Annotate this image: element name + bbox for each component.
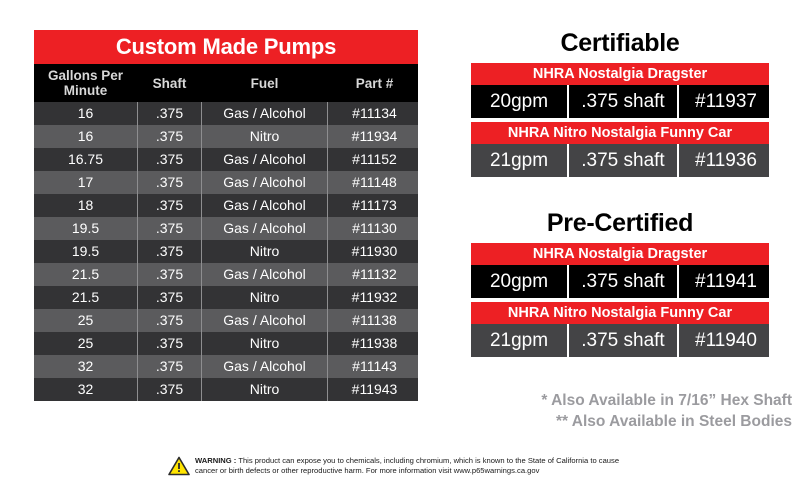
cell-shaft: .375: [137, 286, 201, 309]
cell-part-number: #11130: [327, 217, 421, 240]
cell-fuel: Nitro: [201, 286, 327, 309]
cell-fuel: Nitro: [201, 332, 327, 355]
cell-fuel: Nitro: [201, 378, 327, 401]
cell-shaft: .375: [137, 332, 201, 355]
prop65-warning-body: This product can expose you to chemicals…: [195, 456, 619, 475]
cell-part-number: #11940: [677, 324, 773, 357]
cell-shaft: .375 shaft: [567, 85, 677, 118]
cell-fuel: Nitro: [201, 125, 327, 148]
column-header-part-number: Part #: [327, 76, 421, 91]
table-row: 16.75.375Gas / Alcohol#11152: [34, 148, 418, 171]
cell-shaft: .375: [137, 355, 201, 378]
table-row: 18.375Gas / Alcohol#11173: [34, 194, 418, 217]
cell-part-number: #11938: [327, 332, 421, 355]
cell-gallons-per-minute: 21.5: [34, 263, 137, 286]
cell-gpm: 21gpm: [471, 324, 567, 357]
main-table-title: Custom Made Pumps: [34, 30, 418, 64]
main-table-header-row: Gallons Per Minute Shaft Fuel Part #: [34, 64, 418, 102]
cell-fuel: Gas / Alcohol: [201, 194, 327, 217]
cell-shaft: .375: [137, 194, 201, 217]
cell-shaft: .375: [137, 240, 201, 263]
mini-table-header: NHRA Nitro Nostalgia Funny Car: [471, 302, 769, 324]
column-header-shaft: Shaft: [137, 76, 201, 91]
cell-shaft: .375: [137, 171, 201, 194]
cell-shaft: .375: [137, 378, 201, 401]
cell-fuel: Gas / Alcohol: [201, 263, 327, 286]
cell-part-number: #11138: [327, 309, 421, 332]
certifiable-title: Certifiable: [471, 28, 769, 58]
cell-gallons-per-minute: 25: [34, 332, 137, 355]
cell-part-number: #11936: [677, 144, 773, 177]
mini-table-header: NHRA Nostalgia Dragster: [471, 63, 769, 85]
warning-triangle-icon: [168, 456, 190, 476]
cell-gallons-per-minute: 16: [34, 125, 137, 148]
cell-part-number: #11932: [327, 286, 421, 309]
table-row: 32.375Gas / Alcohol#11143: [34, 355, 418, 378]
mini-table-header: NHRA Nitro Nostalgia Funny Car: [471, 122, 769, 144]
cell-fuel: Gas / Alcohol: [201, 309, 327, 332]
table-row: 16.375Gas / Alcohol#11134: [34, 102, 418, 125]
table-row: 25.375Gas / Alcohol#11138: [34, 309, 418, 332]
mini-table-row: 20gpm.375 shaft#11941: [471, 265, 769, 298]
cell-part-number: #11934: [327, 125, 421, 148]
cell-gallons-per-minute: 16: [34, 102, 137, 125]
cell-shaft: .375: [137, 148, 201, 171]
column-header-gallons-per-minute: Gallons Per Minute: [34, 68, 137, 98]
cell-part-number: #11152: [327, 148, 421, 171]
table-row: 17.375Gas / Alcohol#11148: [34, 171, 418, 194]
custom-made-pumps-table: Custom Made Pumps Gallons Per Minute Sha…: [34, 30, 418, 401]
cell-gallons-per-minute: 16.75: [34, 148, 137, 171]
prop65-warning-label: WARNING :: [195, 456, 236, 465]
footnote-hex-shaft: * Also Available in 7/16” Hex Shaft: [462, 390, 792, 411]
cell-fuel: Gas / Alcohol: [201, 171, 327, 194]
cell-shaft: .375 shaft: [567, 265, 677, 298]
table-row: 25.375Nitro#11938: [34, 332, 418, 355]
cell-gpm: 20gpm: [471, 85, 567, 118]
table-row: 16.375Nitro#11934: [34, 125, 418, 148]
cell-shaft: .375: [137, 263, 201, 286]
cell-part-number: #11937: [677, 85, 773, 118]
cell-gallons-per-minute: 19.5: [34, 240, 137, 263]
mini-table-row: 21gpm.375 shaft#11940: [471, 324, 769, 357]
prop65-warning: WARNING : This product can expose you to…: [168, 456, 638, 476]
cell-fuel: Gas / Alcohol: [201, 148, 327, 171]
cell-gallons-per-minute: 32: [34, 378, 137, 401]
cell-gallons-per-minute: 21.5: [34, 286, 137, 309]
table-row: 19.5.375Gas / Alcohol#11130: [34, 217, 418, 240]
cell-fuel: Gas / Alcohol: [201, 355, 327, 378]
cell-gallons-per-minute: 17: [34, 171, 137, 194]
footnote-steel-bodies: ** Also Available in Steel Bodies: [462, 411, 792, 432]
cell-part-number: #11941: [677, 265, 773, 298]
cell-fuel: Gas / Alcohol: [201, 217, 327, 240]
precertified-table: NHRA Nostalgia Dragster20gpm.375 shaft#1…: [471, 243, 769, 357]
main-table-body: 16.375Gas / Alcohol#1113416.375Nitro#119…: [34, 102, 418, 401]
table-row: 21.5.375Nitro#11932: [34, 286, 418, 309]
column-header-fuel: Fuel: [201, 76, 327, 91]
table-row: 19.5.375Nitro#11930: [34, 240, 418, 263]
cell-gpm: 20gpm: [471, 265, 567, 298]
precertified-title: Pre-Certified: [471, 208, 769, 238]
cell-shaft: .375 shaft: [567, 144, 677, 177]
cell-fuel: Gas / Alcohol: [201, 102, 327, 125]
cell-gallons-per-minute: 19.5: [34, 217, 137, 240]
precertified-section: Pre-Certified NHRA Nostalgia Dragster20g…: [471, 208, 769, 357]
prop65-warning-text: WARNING : This product can expose you to…: [195, 456, 638, 476]
table-row: 21.5.375Gas / Alcohol#11132: [34, 263, 418, 286]
cell-part-number: #11930: [327, 240, 421, 263]
cell-part-number: #11173: [327, 194, 421, 217]
certifiable-table: NHRA Nostalgia Dragster20gpm.375 shaft#1…: [471, 63, 769, 177]
cell-shaft: .375: [137, 125, 201, 148]
cell-gpm: 21gpm: [471, 144, 567, 177]
footnotes: * Also Available in 7/16” Hex Shaft ** A…: [462, 390, 792, 432]
table-row: 32.375Nitro#11943: [34, 378, 418, 401]
cell-gallons-per-minute: 18: [34, 194, 137, 217]
cell-gallons-per-minute: 32: [34, 355, 137, 378]
column-header-gpm-line1: Gallons Per: [34, 68, 137, 83]
mini-table-row: 20gpm.375 shaft#11937: [471, 85, 769, 118]
cell-shaft: .375: [137, 309, 201, 332]
cell-shaft: .375 shaft: [567, 324, 677, 357]
cell-gallons-per-minute: 25: [34, 309, 137, 332]
cell-part-number: #11143: [327, 355, 421, 378]
cell-shaft: .375: [137, 102, 201, 125]
cell-part-number: #11943: [327, 378, 421, 401]
certifiable-section: Certifiable NHRA Nostalgia Dragster20gpm…: [471, 28, 769, 177]
cell-part-number: #11134: [327, 102, 421, 125]
column-header-gpm-line2: Minute: [34, 83, 137, 98]
cell-part-number: #11132: [327, 263, 421, 286]
mini-table-header: NHRA Nostalgia Dragster: [471, 243, 769, 265]
cell-fuel: Nitro: [201, 240, 327, 263]
cell-shaft: .375: [137, 217, 201, 240]
cell-part-number: #11148: [327, 171, 421, 194]
mini-table-row: 21gpm.375 shaft#11936: [471, 144, 769, 177]
